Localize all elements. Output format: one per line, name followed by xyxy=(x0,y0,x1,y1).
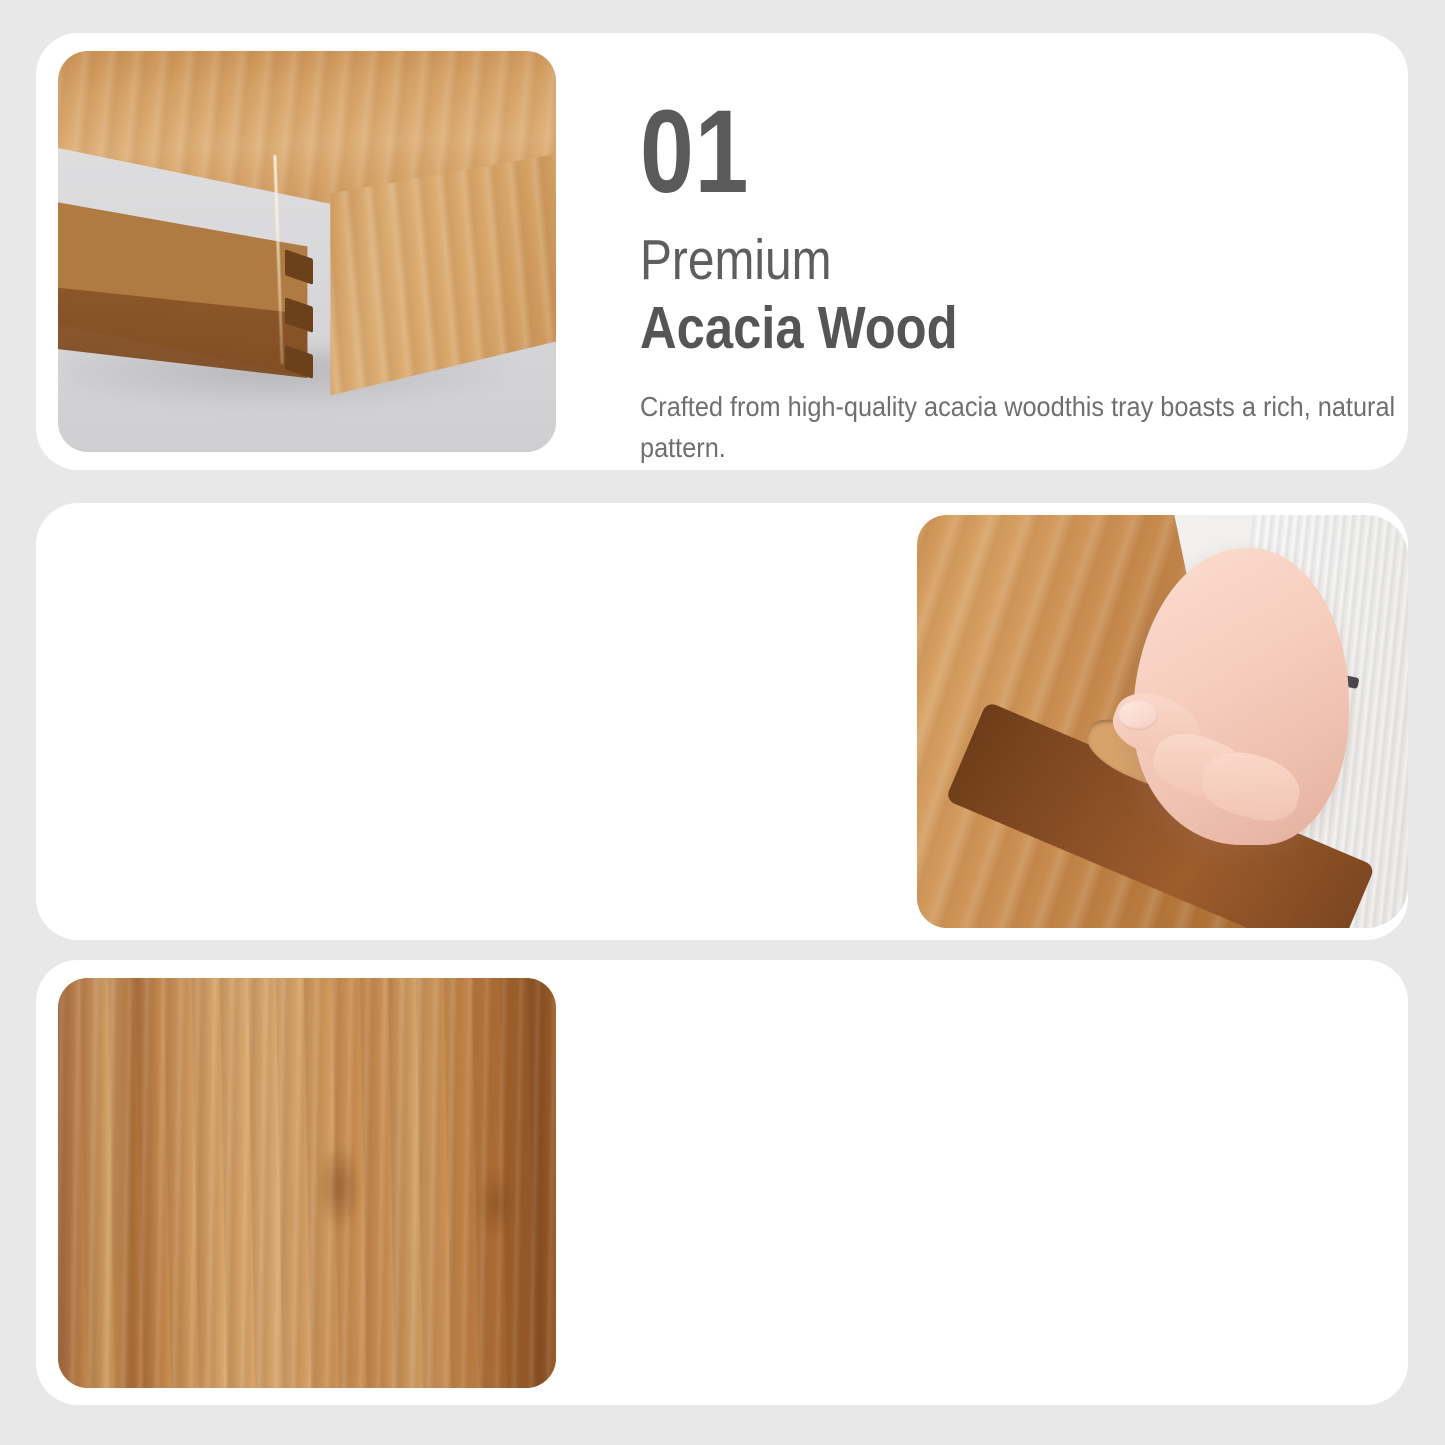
feature-card-02: 02 Integrated Handles The handles provid… xyxy=(36,503,1408,940)
feature-title-bold: Acacia Wood xyxy=(640,295,1319,361)
surface-sheen xyxy=(58,978,556,1388)
thumb-nail xyxy=(1118,701,1157,730)
feature-image-hand-holding-handle xyxy=(917,515,1408,928)
feature-image-raw-wood-grain xyxy=(58,978,556,1388)
feature-card-01: 01 Premium Acacia Wood Crafted from high… xyxy=(36,33,1408,470)
feature-image-acacia-wood-tray-corner xyxy=(58,51,556,452)
infographic-page: 01 Premium Acacia Wood Crafted from high… xyxy=(0,0,1445,1445)
feature-title-light: Premium xyxy=(640,229,1304,293)
feature-number: 01 xyxy=(640,93,1288,211)
feature-text-01: 01 Premium Acacia Wood Crafted from high… xyxy=(640,93,1408,468)
feature-description: Crafted from high-quality acacia woodthi… xyxy=(640,387,1408,468)
feature-card-03: 03 Raw wood Original ecological wood str… xyxy=(36,960,1408,1405)
